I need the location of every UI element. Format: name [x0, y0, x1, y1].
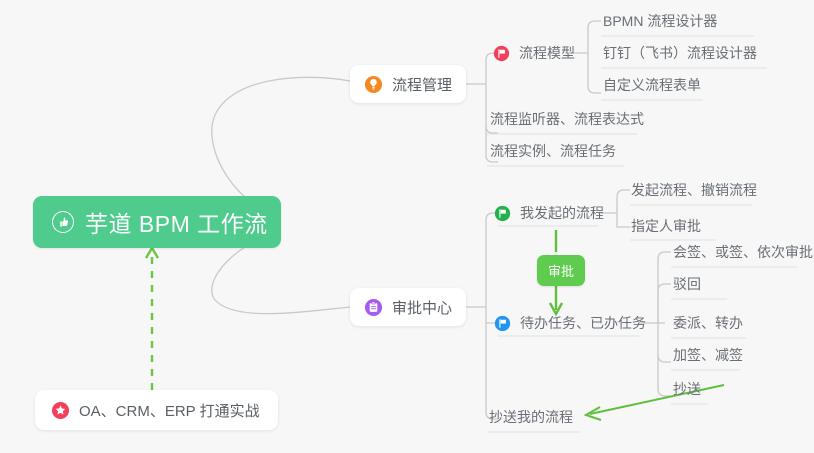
node-label: 加签、减签 — [673, 348, 743, 362]
node-start-cancel[interactable]: 发起流程、撤销流程 — [631, 175, 757, 205]
root-node[interactable]: 芋道 BPM 工作流 — [33, 196, 281, 248]
node-label: 会签、或签、依次审批 — [673, 245, 813, 259]
node-reject[interactable]: 驳回 — [673, 269, 701, 299]
node-label: BPMN 流程设计器 — [603, 14, 717, 28]
node-delegate-transfer[interactable]: 委派、转办 — [673, 308, 743, 338]
node-label: 抄送我的流程 — [489, 410, 573, 424]
node-cc-to-me[interactable]: 抄送我的流程 — [489, 402, 573, 432]
node-label: 自定义流程表单 — [603, 78, 701, 92]
flag-icon — [493, 45, 510, 62]
node-custom-process-form[interactable]: 自定义流程表单 — [603, 70, 701, 100]
node-todo-done[interactable]: 待办任务、已办任务 — [494, 308, 646, 338]
node-label: 驳回 — [673, 277, 701, 291]
mindmap-canvas: 芋道 BPM 工作流 流程管理 流程模型 BPMN 流程设计器 钉钉（飞书）流程 — [0, 0, 814, 453]
node-instance-task[interactable]: 流程实例、流程任务 — [490, 136, 616, 166]
node-label: 指定人审批 — [631, 219, 701, 233]
node-cc[interactable]: 抄送 — [673, 374, 701, 404]
node-process-model[interactable]: 流程模型 — [493, 38, 575, 68]
flag-icon — [494, 205, 511, 222]
node-bpmn-designer[interactable]: BPMN 流程设计器 — [603, 6, 717, 36]
integration-note-card[interactable]: OA、CRM、ERP 打通实战 — [35, 390, 278, 430]
star-icon — [51, 401, 70, 420]
approval-tag-label: 审批 — [548, 264, 574, 279]
branch-approval-center[interactable]: 审批中心 — [350, 288, 466, 326]
flag-icon — [494, 315, 511, 332]
approval-tag[interactable]: 审批 — [537, 255, 585, 286]
node-label: 流程监听器、流程表达式 — [490, 112, 644, 126]
clipboard-icon — [364, 298, 383, 317]
node-label: 流程实例、流程任务 — [490, 144, 616, 158]
node-label: 抄送 — [673, 382, 701, 396]
lightbulb-icon — [364, 75, 383, 94]
node-add-remove-sign[interactable]: 加签、减签 — [673, 340, 743, 370]
branch-label: 流程管理 — [392, 74, 452, 95]
branch-process-management[interactable]: 流程管理 — [350, 65, 466, 103]
node-label: 委派、转办 — [673, 316, 743, 330]
branch-label: 审批中心 — [392, 297, 452, 318]
node-label: 发起流程、撤销流程 — [631, 183, 757, 197]
node-label: 待办任务、已办任务 — [520, 316, 646, 330]
node-countersign[interactable]: 会签、或签、依次审批 — [673, 237, 813, 267]
node-label: 钉钉（飞书）流程设计器 — [603, 46, 757, 60]
cc-flow-arrow — [590, 385, 724, 414]
node-label: 流程模型 — [519, 46, 575, 60]
root-label: 芋道 BPM 工作流 — [85, 205, 268, 239]
node-label: 我发起的流程 — [520, 206, 604, 220]
integration-note-label: OA、CRM、ERP 打通实战 — [79, 400, 260, 421]
node-listener-expression[interactable]: 流程监听器、流程表达式 — [490, 104, 644, 134]
thumbs-up-icon — [51, 210, 75, 234]
node-dingtalk-feishu-designer[interactable]: 钉钉（飞书）流程设计器 — [603, 38, 757, 68]
node-my-initiated[interactable]: 我发起的流程 — [494, 198, 604, 228]
